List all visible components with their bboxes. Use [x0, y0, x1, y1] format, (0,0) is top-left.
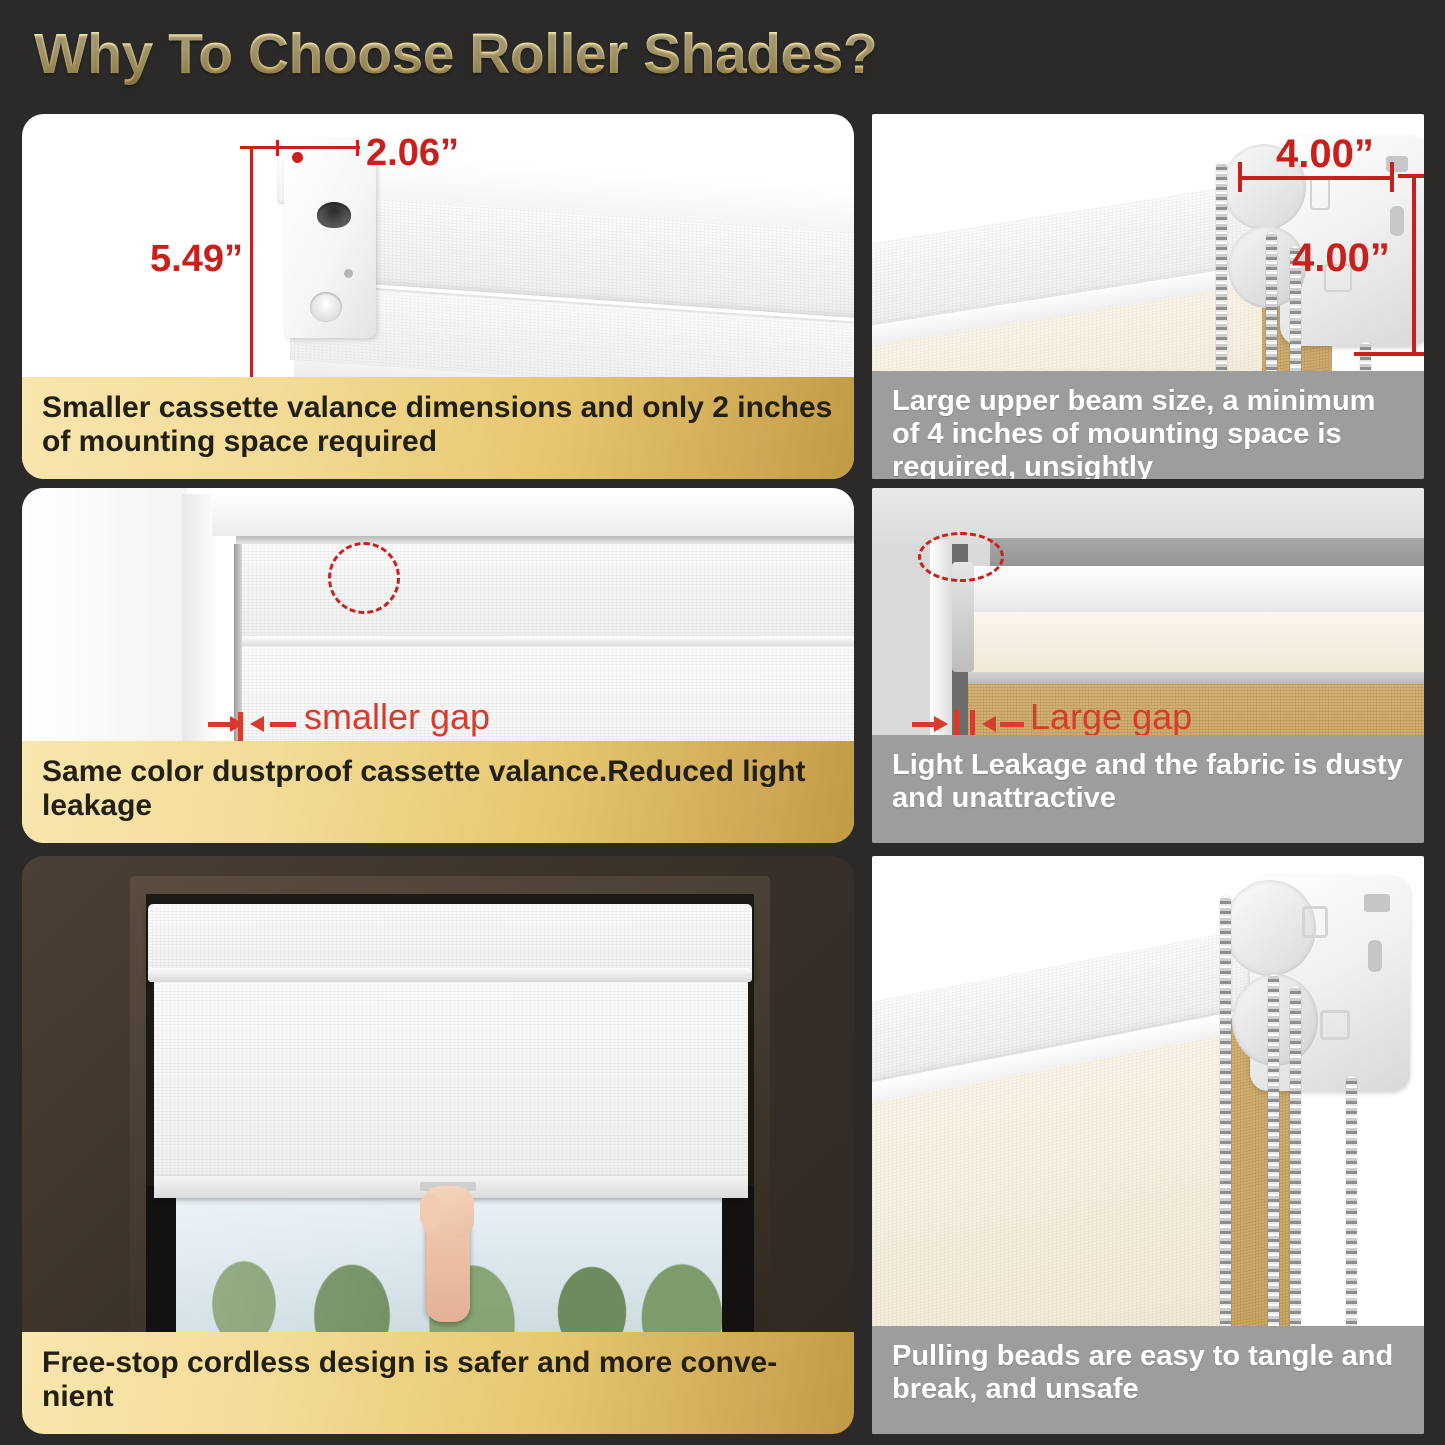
cassette-valance-face [236, 544, 854, 636]
large-gap-arrow-right-shaft [1000, 722, 1024, 727]
bracket-emboss-upper-icon [1302, 906, 1328, 938]
width-dimension-label: 2.06” [366, 132, 459, 175]
window-frame-top [212, 494, 854, 536]
bracket-slot-icon [317, 202, 351, 228]
panel-4-bad: Large gap Light Leakage and the fabric i… [872, 488, 1424, 843]
large-gap-arrow-right-head [982, 716, 996, 732]
width-dim-dot [292, 152, 303, 163]
comparison-grid: 2.06” 5.49” Smaller cassette valance dim… [0, 108, 1445, 1445]
bad-width-tick-left [1238, 162, 1242, 192]
gap-arrow-right-head [250, 716, 264, 732]
smaller-gap-label: smaller gap [304, 696, 490, 738]
hand-thumb [420, 1194, 440, 1228]
height-dim-line [250, 146, 253, 408]
cassette-bottom-edge [236, 636, 854, 646]
valance-lip [148, 968, 752, 982]
panel-3-caption: Same color dustproof cassette valance.Re… [22, 741, 854, 843]
height-dim-tick-top [240, 146, 288, 149]
panel-6-caption: Pulling beads are easy to tangle and bre… [872, 1326, 1424, 1434]
panel-5-caption: Free-stop cordless design is safer and m… [22, 1332, 854, 1434]
window-jamb-right [722, 1186, 754, 1336]
bracket-mount-slot-lower-icon [1368, 940, 1382, 972]
panel-3-good: smaller gap Same color dustproof cassett… [22, 488, 854, 843]
window-jamb-left [146, 1186, 176, 1336]
panel-2-caption: Large upper beam size, a minimum of 4 in… [872, 371, 1424, 479]
roller-shade-fabric [154, 982, 748, 1190]
mounting-screw-icon [310, 292, 342, 322]
height-dimension-label: 5.49” [150, 238, 243, 281]
width-dim-tick-right [356, 140, 359, 156]
fabric-cream-band [968, 612, 1424, 674]
bad-height-tick-bottom [1354, 352, 1424, 356]
page-title: Why To Choose Roller Shades? [34, 21, 877, 87]
bracket-emboss-lower-icon [1320, 1010, 1350, 1040]
bad-height-tick-top [1398, 174, 1424, 178]
bad-width-dimension-label: 4.00” [1276, 132, 1374, 177]
large-gap-arrow-left-head [934, 716, 948, 732]
bracket-emboss-upper-icon [1310, 176, 1330, 210]
bracket-slot-lower-icon [1390, 206, 1404, 236]
gap-arrow-right-shaft [270, 722, 296, 727]
panel-1-caption: Smaller cassette valance dimensions and … [22, 377, 854, 479]
panel-5-good: Free-stop cordless design is safer and m… [22, 856, 854, 1434]
bad-height-dimension-label: 4.00” [1292, 236, 1390, 281]
gap-arrow-left-head [230, 716, 244, 732]
roller-tube-white [964, 566, 1424, 614]
page-header: Why To Choose Roller Shades? [0, 0, 1445, 108]
panel-4-caption: Light Leakage and the fabric is dusty an… [872, 735, 1424, 843]
gap-highlight-circle [328, 542, 400, 614]
panel-1-good: 2.06” 5.49” Smaller cassette valance dim… [22, 114, 854, 479]
bracket-mount-slot-upper-icon [1364, 894, 1390, 912]
large-gap-arrow-left-shaft [912, 722, 936, 727]
panel-2-bad: 4.00” 4.00” Large upper beam size, a min… [872, 114, 1424, 479]
cassette-valance [148, 904, 752, 978]
cassette-shadow-line [236, 536, 854, 544]
bad-height-dim-line [1412, 176, 1416, 356]
large-gap-label: Large gap [1030, 696, 1192, 738]
panel-6-bad: Pulling beads are easy to tangle and bre… [872, 856, 1424, 1434]
bad-width-tick-right [1390, 162, 1394, 192]
screw-head-icon [344, 269, 353, 278]
large-gap-highlight-circle [918, 532, 1004, 582]
